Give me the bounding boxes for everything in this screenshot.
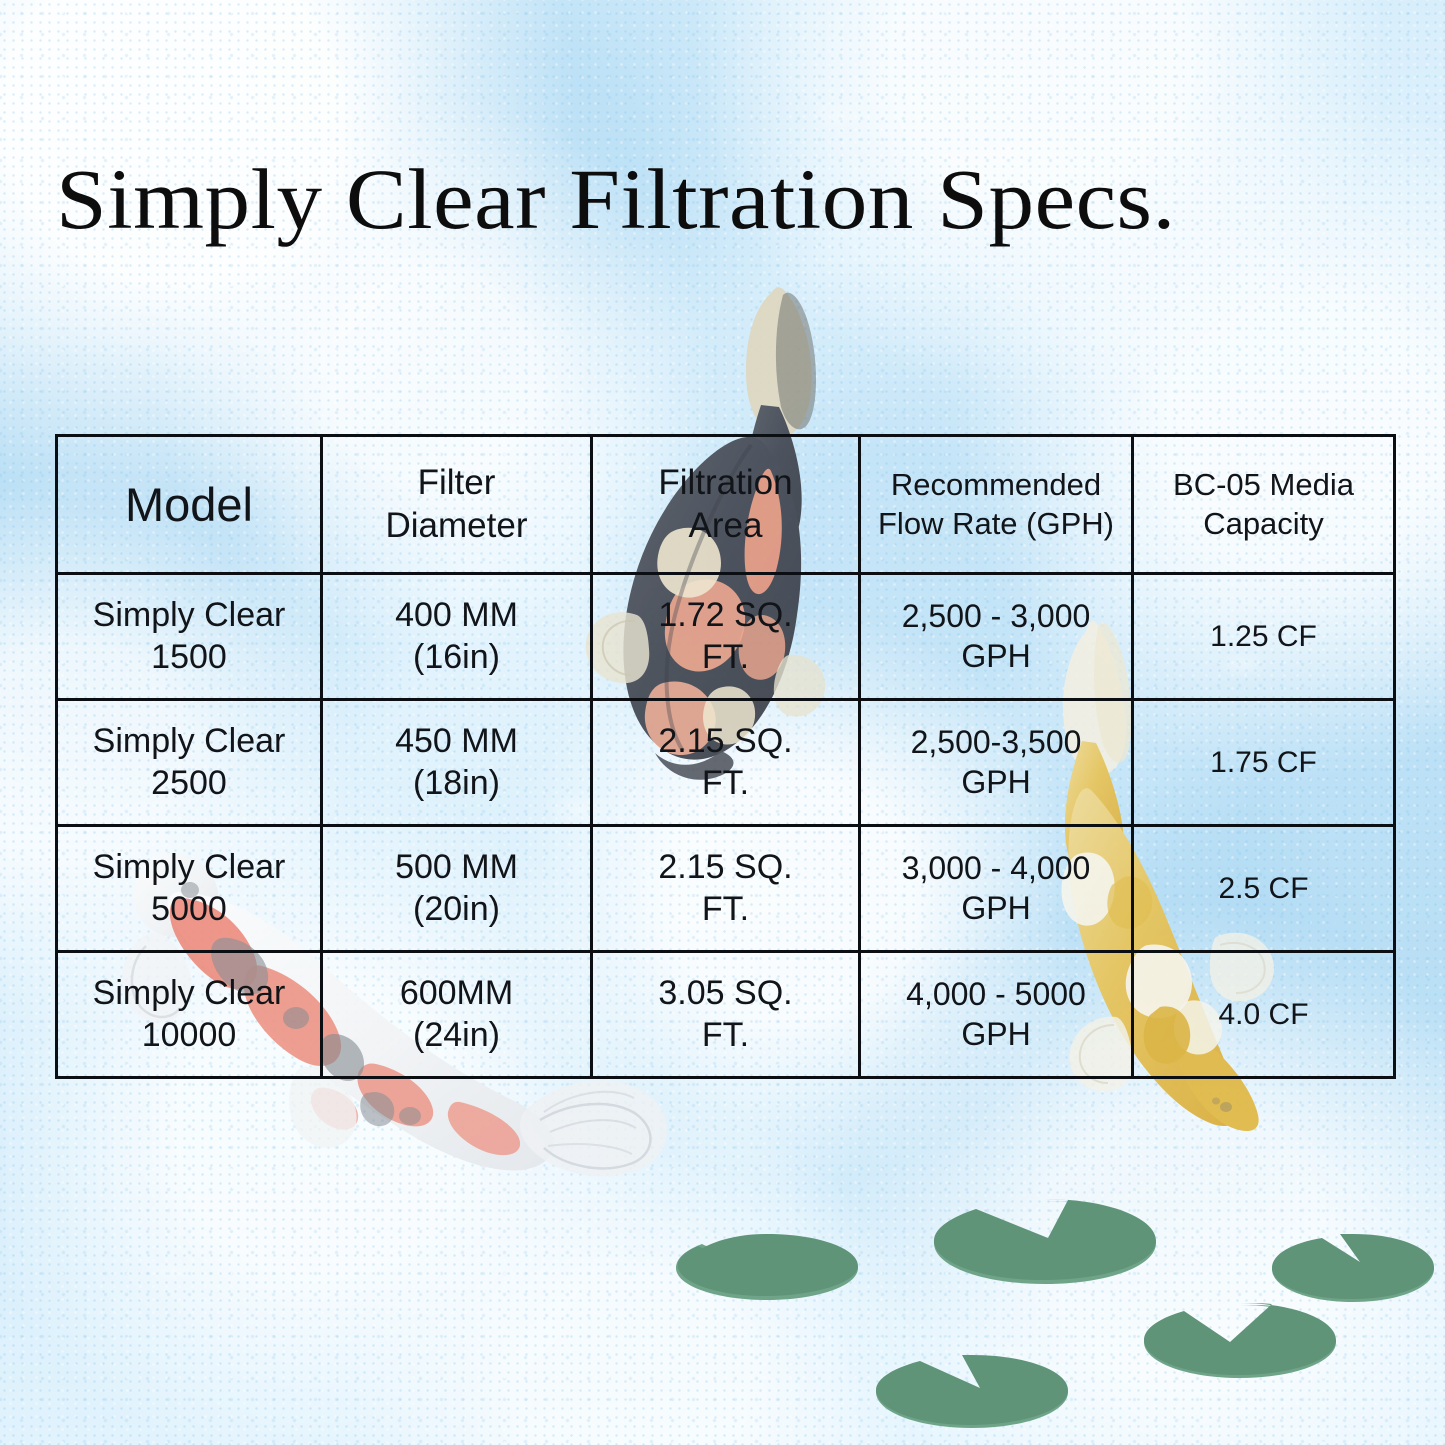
cell-filtration-area: 2.15 SQ. FT. [592, 826, 860, 952]
column-header-media-capacity-line1: BC-05 Media [1140, 466, 1387, 504]
column-header-filtration-area-line2: Area [599, 505, 852, 548]
cell-filter-diameter-line1: 500 MM [329, 847, 584, 888]
lily-pad-left [672, 1232, 862, 1304]
lily-pad-bottom-left [872, 1352, 1072, 1432]
cell-flow-rate: 4,000 - 5000 GPH [860, 952, 1133, 1078]
cell-filter-diameter-line1: 450 MM [329, 721, 584, 762]
cell-filtration-area-line1: 3.05 SQ. [599, 973, 852, 1014]
column-header-flow-rate-line2: Flow Rate (GPH) [867, 505, 1125, 543]
cell-filtration-area-line2: FT. [599, 763, 852, 804]
cell-filtration-area: 3.05 SQ. FT. [592, 952, 860, 1078]
cell-filter-diameter-line2: (16in) [329, 637, 584, 678]
cell-flow-rate-line2: GPH [867, 889, 1125, 928]
cell-model: Simply Clear 5000 [57, 826, 322, 952]
cell-filter-diameter-line1: 400 MM [329, 595, 584, 636]
table-header-row: Model Filter Diameter Filtration Area Re… [57, 436, 1395, 574]
cell-flow-rate-line1: 2,500-3,500 [867, 723, 1125, 762]
column-header-flow-rate: Recommended Flow Rate (GPH) [860, 436, 1133, 574]
cell-model-line2: 2500 [64, 763, 314, 804]
cell-filtration-area-line2: FT. [599, 889, 852, 930]
cell-media-capacity-line1: 1.75 CF [1140, 745, 1387, 781]
cell-flow-rate: 2,500 - 3,000 GPH [860, 574, 1133, 700]
cell-filter-diameter-line2: (24in) [329, 1015, 584, 1056]
table-row: Simply Clear 5000 500 MM (20in) 2.15 SQ.… [57, 826, 1395, 952]
cell-flow-rate-line2: GPH [867, 763, 1125, 802]
cell-filter-diameter-line2: (18in) [329, 763, 584, 804]
cell-model-line2: 1500 [64, 637, 314, 678]
column-header-model: Model [57, 436, 322, 574]
column-header-filtration-area-line1: Filtration [599, 462, 852, 505]
cell-flow-rate-line1: 2,500 - 3,000 [867, 597, 1125, 636]
lily-pad-bottom-right [1140, 1300, 1340, 1382]
column-header-media-capacity-line2: Capacity [1140, 505, 1387, 543]
cell-model: Simply Clear 2500 [57, 700, 322, 826]
page-title: Simply Clear Filtration Specs. [56, 156, 1445, 242]
cell-flow-rate: 3,000 - 4,000 GPH [860, 826, 1133, 952]
cell-model-line1: Simply Clear [64, 847, 314, 888]
cell-flow-rate-line1: 3,000 - 4,000 [867, 849, 1125, 888]
cell-media-capacity-line1: 1.25 CF [1140, 619, 1387, 655]
cell-filter-diameter-line1: 600MM [329, 973, 584, 1014]
cell-filter-diameter: 500 MM (20in) [322, 826, 592, 952]
table-row: Simply Clear 1500 400 MM (16in) 1.72 SQ.… [57, 574, 1395, 700]
cell-media-capacity: 1.25 CF [1133, 574, 1395, 700]
column-header-model-line1: Model [64, 480, 314, 529]
cell-filtration-area-line1: 2.15 SQ. [599, 721, 852, 762]
filtration-specs-table: Model Filter Diameter Filtration Area Re… [55, 434, 1396, 1079]
cell-filtration-area: 2.15 SQ. FT. [592, 700, 860, 826]
cell-filtration-area: 1.72 SQ. FT. [592, 574, 860, 700]
cell-filter-diameter: 400 MM (16in) [322, 574, 592, 700]
column-header-flow-rate-line1: Recommended [867, 466, 1125, 504]
cell-media-capacity: 2.5 CF [1133, 826, 1395, 952]
cell-flow-rate: 2,500-3,500 GPH [860, 700, 1133, 826]
cell-flow-rate-line2: GPH [867, 1015, 1125, 1054]
column-header-filter-diameter: Filter Diameter [322, 436, 592, 574]
column-header-filter-diameter-line1: Filter [329, 462, 584, 505]
cell-media-capacity-line1: 2.5 CF [1140, 871, 1387, 907]
cell-model: Simply Clear 10000 [57, 952, 322, 1078]
pond-background: Simply Clear Filtration Specs. Model Fil… [0, 0, 1445, 1445]
cell-model-line1: Simply Clear [64, 721, 314, 762]
cell-filter-diameter-line2: (20in) [329, 889, 584, 930]
cell-flow-rate-line1: 4,000 - 5000 [867, 975, 1125, 1014]
cell-filtration-area-line2: FT. [599, 637, 852, 678]
cell-media-capacity: 4.0 CF [1133, 952, 1395, 1078]
cell-model: Simply Clear 1500 [57, 574, 322, 700]
cell-model-line1: Simply Clear [64, 973, 314, 1014]
cell-filtration-area-line1: 2.15 SQ. [599, 847, 852, 888]
column-header-filter-diameter-line2: Diameter [329, 505, 584, 548]
cell-filter-diameter: 450 MM (18in) [322, 700, 592, 826]
cell-filtration-area-line2: FT. [599, 1015, 852, 1056]
table-row: Simply Clear 10000 600MM (24in) 3.05 SQ.… [57, 952, 1395, 1078]
column-header-media-capacity: BC-05 Media Capacity [1133, 436, 1395, 574]
cell-filter-diameter: 600MM (24in) [322, 952, 592, 1078]
cell-model-line2: 5000 [64, 889, 314, 930]
lily-pad-center [930, 1196, 1160, 1288]
cell-media-capacity: 1.75 CF [1133, 700, 1395, 826]
cell-flow-rate-line2: GPH [867, 637, 1125, 676]
lily-pad-right [1268, 1232, 1438, 1306]
column-header-filtration-area: Filtration Area [592, 436, 860, 574]
table-row: Simply Clear 2500 450 MM (18in) 2.15 SQ.… [57, 700, 1395, 826]
cell-media-capacity-line1: 4.0 CF [1140, 997, 1387, 1033]
cell-model-line1: Simply Clear [64, 595, 314, 636]
cell-model-line2: 10000 [64, 1015, 314, 1056]
cell-filtration-area-line1: 1.72 SQ. [599, 595, 852, 636]
